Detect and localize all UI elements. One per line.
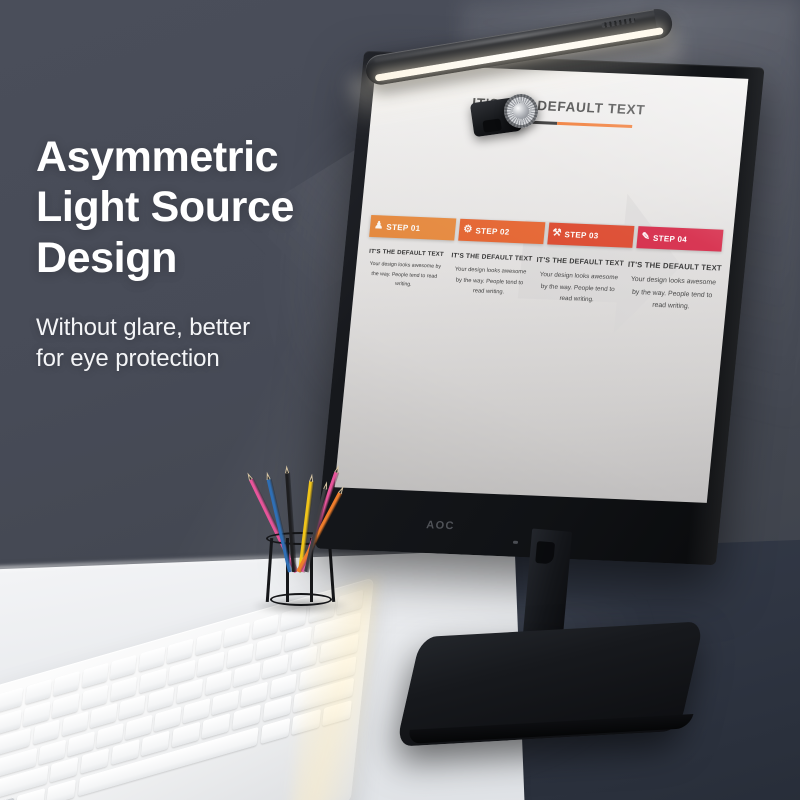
key-fn[interactable] xyxy=(0,796,14,800)
monitor: IT'S THE DEFAULT TEXT ♟STEP 01⚙STEP 02⚒S… xyxy=(315,51,764,565)
cup-rim-bottom xyxy=(270,593,332,606)
column-body: Your design looks awesome by the way. Pe… xyxy=(623,274,721,316)
marketing-copy: Asymmetric Light Source Design Without g… xyxy=(36,132,376,374)
step-badge-1: ♟STEP 01 xyxy=(369,215,456,240)
subheadline-line: for eye protection xyxy=(36,344,376,375)
headline-line: Asymmetric xyxy=(36,132,376,182)
pencil-tip xyxy=(285,465,290,473)
headline: Asymmetric Light Source Design xyxy=(36,132,376,283)
step-label: STEP 02 xyxy=(475,226,510,236)
column-heading: IT'S THE DEFAULT TEXT xyxy=(451,252,533,262)
pencil-tip xyxy=(309,473,314,481)
step-label: STEP 03 xyxy=(564,230,599,240)
pencil-tip xyxy=(323,481,329,490)
monitor-screen[interactable]: IT'S THE DEFAULT TEXT ♟STEP 01⚙STEP 02⚒S… xyxy=(335,63,749,503)
subheadline: Without glare, better for eye protection xyxy=(36,313,376,374)
step-label: STEP 04 xyxy=(653,233,688,243)
monitor-brand-logo: AOC xyxy=(426,519,456,532)
stand-cable-notch xyxy=(535,541,555,564)
power-led-indicator xyxy=(513,541,518,544)
step-badge-4: ✎STEP 04 xyxy=(636,226,723,251)
step-icon: ⚒ xyxy=(552,229,562,239)
pencil-tip xyxy=(265,471,271,480)
slide-title: IT'S THE DEFAULT TEXT xyxy=(384,92,734,122)
key-alt-right[interactable] xyxy=(260,717,290,743)
slide-column-4: IT'S THE DEFAULT TEXTYour design looks a… xyxy=(623,260,722,316)
key-arrow[interactable] xyxy=(322,700,352,726)
column-heading: IT'S THE DEFAULT TEXT xyxy=(365,249,447,258)
column-body: Your design looks awesome by the way. Pe… xyxy=(532,269,623,307)
step-badge-3: ⚒STEP 03 xyxy=(547,222,634,247)
headline-line: Light Source xyxy=(36,182,376,232)
slide-column-2: IT'S THE DEFAULT TEXTYour design looks a… xyxy=(446,252,533,307)
step-icon: ⚙ xyxy=(463,225,473,235)
step-label: STEP 01 xyxy=(386,222,421,232)
key-arrow[interactable] xyxy=(291,708,321,734)
step-icon: ✎ xyxy=(641,232,651,242)
cup-wire xyxy=(266,538,273,602)
presentation-slide: IT'S THE DEFAULT TEXT ♟STEP 01⚙STEP 02⚒S… xyxy=(335,63,749,503)
slide-column-3: IT'S THE DEFAULT TEXTYour design looks a… xyxy=(532,256,624,311)
step-badge-2: ⚙STEP 02 xyxy=(458,219,545,244)
promo-scene: IT'S THE DEFAULT TEXT ♟STEP 01⚙STEP 02⚒S… xyxy=(0,0,800,800)
underline-accent-segment xyxy=(557,122,632,128)
subheadline-line: Without glare, better xyxy=(36,313,376,344)
column-heading: IT'S THE DEFAULT TEXT xyxy=(628,260,723,273)
headline-line: Design xyxy=(36,233,376,283)
column-body: Your design looks awesome by the way. Pe… xyxy=(447,264,532,299)
